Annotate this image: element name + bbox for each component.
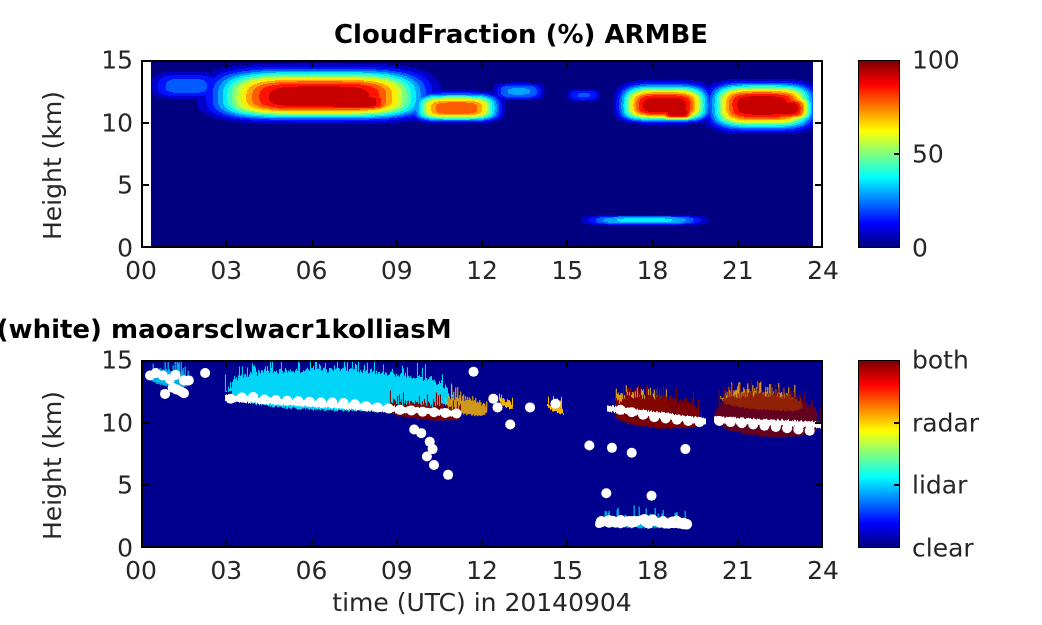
x-tick-mark <box>481 360 483 368</box>
x-tick-label: 24 <box>807 556 839 585</box>
y-tick-label: 10 <box>75 108 133 137</box>
colorbar-tick-label: 50 <box>912 140 944 169</box>
y-tick-mark <box>815 184 823 186</box>
x-tick-label: 09 <box>381 556 413 585</box>
x-tick-label: 12 <box>466 556 498 585</box>
x-tick-label: 18 <box>637 556 669 585</box>
x-tick-mark <box>396 540 398 548</box>
plot-area-cloud-detection[interactable] <box>141 360 823 548</box>
colorbar-tick-label: both <box>912 346 969 375</box>
y-tick-mark <box>141 484 149 486</box>
colorbar-tick-mark <box>894 153 900 155</box>
y-tick-mark <box>815 122 823 124</box>
y-axis-label-top: Height (km) <box>38 91 67 240</box>
x-tick-mark <box>311 240 313 248</box>
x-tick-mark <box>396 60 398 68</box>
x-tick-mark <box>225 240 227 248</box>
x-tick-mark <box>737 240 739 248</box>
x-tick-mark <box>311 360 313 368</box>
x-tick-label: 00 <box>125 556 157 585</box>
y-tick-mark <box>141 184 149 186</box>
chart-title-cloud-detection: tection (color) and cloud base (white) m… <box>0 315 590 345</box>
x-tick-label: 09 <box>381 256 413 285</box>
x-tick-mark <box>566 240 568 248</box>
x-tick-mark <box>737 60 739 68</box>
x-axis-label-bottom: time (UTC) in 20140904 <box>0 588 964 617</box>
x-tick-mark <box>225 540 227 548</box>
x-tick-label: 06 <box>296 556 328 585</box>
colorbar-tick-label: lidar <box>912 471 967 500</box>
x-tick-mark <box>225 360 227 368</box>
x-tick-mark <box>396 240 398 248</box>
y-tick-label: 15 <box>75 346 133 375</box>
x-tick-mark <box>311 60 313 68</box>
x-tick-mark <box>737 540 739 548</box>
cloud-detection-heatmap-canvas <box>143 362 821 546</box>
colorbar-cloud-detection <box>858 360 900 548</box>
x-tick-label: 06 <box>296 256 328 285</box>
x-tick-label: 00 <box>125 256 157 285</box>
x-tick-label: 12 <box>466 256 498 285</box>
x-tick-mark <box>652 240 654 248</box>
y-tick-label: 5 <box>75 471 133 500</box>
colorbar-gradient-cloud-detection <box>859 361 899 547</box>
x-tick-label: 21 <box>722 556 754 585</box>
cloudfraction-heatmap-canvas <box>143 62 821 246</box>
x-tick-mark <box>396 360 398 368</box>
x-tick-mark <box>311 540 313 548</box>
colorbar-tick-mark <box>894 484 900 486</box>
x-tick-mark <box>652 360 654 368</box>
x-tick-label: 15 <box>551 256 583 285</box>
y-tick-mark <box>141 422 149 424</box>
x-tick-mark <box>481 240 483 248</box>
x-tick-label: 18 <box>637 256 669 285</box>
colorbar-tick-label: clear <box>912 534 974 563</box>
x-tick-label: 24 <box>807 256 839 285</box>
x-tick-label: 03 <box>210 556 242 585</box>
y-tick-label: 15 <box>75 46 133 75</box>
colorbar-tick-mark <box>894 422 900 424</box>
x-tick-label: 21 <box>722 256 754 285</box>
x-tick-mark <box>566 540 568 548</box>
y-axis-label-bottom: Height (km) <box>38 391 67 540</box>
y-tick-mark <box>141 122 149 124</box>
y-tick-mark <box>815 422 823 424</box>
y-tick-label: 10 <box>75 408 133 437</box>
x-tick-label: 03 <box>210 256 242 285</box>
plot-area-cloudfraction[interactable] <box>141 60 823 248</box>
x-tick-mark <box>481 60 483 68</box>
x-tick-mark <box>652 540 654 548</box>
x-tick-mark <box>566 360 568 368</box>
colorbar-gradient-cloudfraction <box>859 61 899 247</box>
colorbar-tick-label: 100 <box>912 46 960 75</box>
colorbar-tick-label: 0 <box>912 234 928 263</box>
x-tick-mark <box>566 60 568 68</box>
x-tick-mark <box>652 60 654 68</box>
y-tick-label: 5 <box>75 171 133 200</box>
colorbar-tick-label: radar <box>912 408 979 437</box>
x-tick-mark <box>481 540 483 548</box>
y-tick-mark <box>815 484 823 486</box>
x-tick-mark <box>225 60 227 68</box>
x-tick-mark <box>737 360 739 368</box>
x-tick-label: 15 <box>551 556 583 585</box>
chart-title-cloudfraction: CloudFraction (%) ARMBE <box>0 20 1042 50</box>
